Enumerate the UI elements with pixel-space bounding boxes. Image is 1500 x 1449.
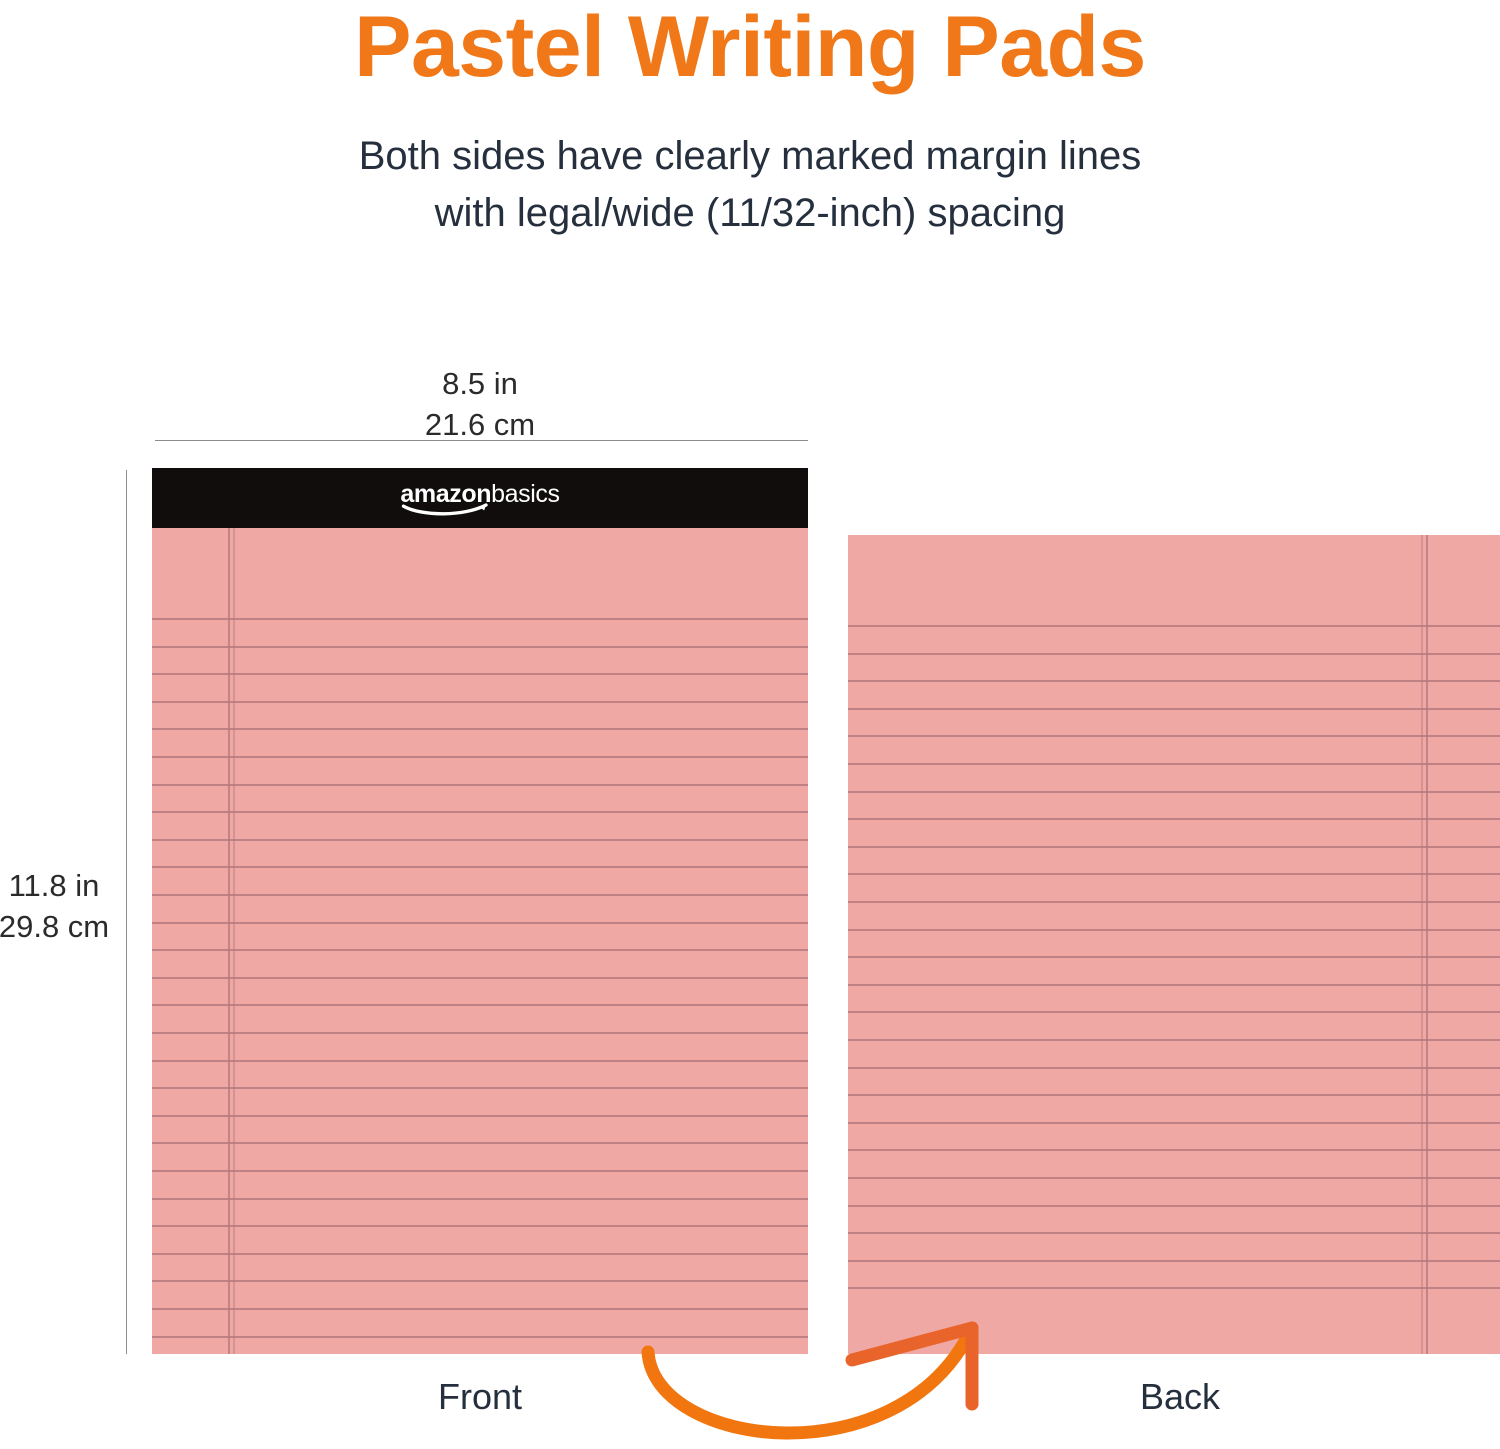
rule-line [848, 846, 1500, 848]
rule-line [152, 646, 808, 648]
rule-line [848, 1094, 1500, 1096]
width-measurement-line [155, 440, 808, 441]
rule-line [848, 901, 1500, 903]
caption-back: Back [1080, 1376, 1280, 1418]
margin-line [1421, 535, 1423, 1354]
width-inches: 8.5 in [280, 364, 680, 405]
subtitle: Both sides have clearly marked margin li… [0, 128, 1500, 242]
rule-line [152, 701, 808, 703]
margin-line [1426, 535, 1428, 1354]
height-inches: 11.8 in [0, 866, 114, 907]
amazonbasics-logo: amazonbasics [400, 482, 559, 512]
rule-line [848, 653, 1500, 655]
rule-line [848, 680, 1500, 682]
pad-brand-header: amazonbasics [152, 468, 808, 528]
rule-line [848, 956, 1500, 958]
rule-line [848, 984, 1500, 986]
writing-pad-back [848, 535, 1500, 1354]
rule-line [848, 818, 1500, 820]
rule-line [848, 1149, 1500, 1151]
rule-line [152, 866, 808, 868]
rule-line [152, 1032, 808, 1034]
rule-line [152, 1253, 808, 1255]
height-dimension-label: 11.8 in 29.8 cm [0, 866, 114, 948]
product-infographic: Pastel Writing Pads Both sides have clea… [0, 0, 1500, 1449]
rule-line [152, 673, 808, 675]
rule-line [152, 756, 808, 758]
rule-line [152, 1060, 808, 1062]
rule-line [152, 784, 808, 786]
amazon-smile-icon [402, 502, 494, 515]
rule-line [848, 763, 1500, 765]
rule-line [848, 1011, 1500, 1013]
rule-line [848, 1232, 1500, 1234]
rule-line [848, 873, 1500, 875]
rule-line [152, 1087, 808, 1089]
rule-line [152, 922, 808, 924]
rule-line [152, 1225, 808, 1227]
margin-line [228, 468, 230, 1354]
width-dimension-label: 8.5 in 21.6 cm [280, 364, 680, 446]
subtitle-line-2: with legal/wide (11/32-inch) spacing [0, 185, 1500, 242]
rule-line [848, 735, 1500, 737]
rule-line [848, 1039, 1500, 1041]
subtitle-line-1: Both sides have clearly marked margin li… [0, 128, 1500, 185]
writing-pad-front: amazonbasics [152, 468, 808, 1354]
rule-line [152, 1198, 808, 1200]
rule-line [152, 949, 808, 951]
rule-line [152, 1115, 808, 1117]
rule-line [848, 1067, 1500, 1069]
rule-line [152, 839, 808, 841]
caption-front: Front [380, 1376, 580, 1418]
rule-line [152, 1170, 808, 1172]
back-ruled-lines [848, 535, 1500, 1354]
front-ruled-lines [152, 468, 808, 1354]
rule-line [152, 811, 808, 813]
rule-line [152, 977, 808, 979]
rule-line [152, 728, 808, 730]
rule-line [848, 1260, 1500, 1262]
height-centimeters: 29.8 cm [0, 907, 114, 948]
rule-line [152, 894, 808, 896]
rule-line [848, 929, 1500, 931]
rule-line [848, 1122, 1500, 1124]
rule-line [848, 1205, 1500, 1207]
margin-line [233, 468, 235, 1354]
rule-line [152, 1004, 808, 1006]
page-title: Pastel Writing Pads [0, 4, 1500, 90]
rule-line [152, 618, 808, 620]
rule-line [152, 1142, 808, 1144]
rule-line [848, 708, 1500, 710]
rule-line [848, 1177, 1500, 1179]
rule-line [848, 791, 1500, 793]
rule-line [848, 625, 1500, 627]
height-measurement-line [126, 470, 127, 1354]
logo-text-basics: basics [491, 480, 559, 508]
flip-arrow-icon [600, 1280, 1060, 1449]
